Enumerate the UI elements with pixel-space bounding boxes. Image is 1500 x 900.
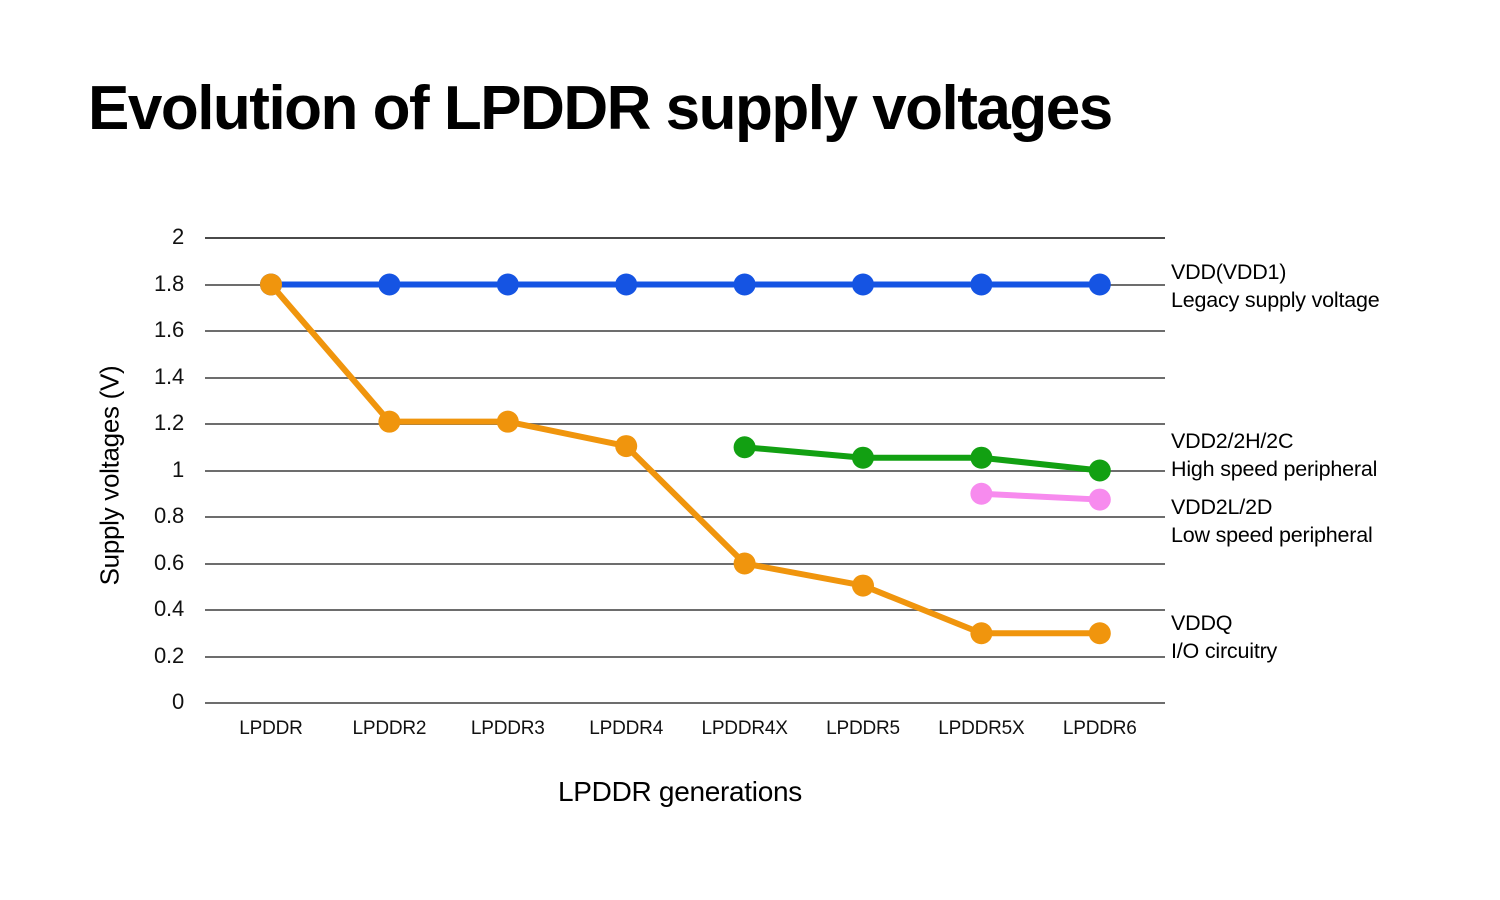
- data-point-marker[interactable]: [734, 436, 756, 458]
- series-line: [745, 447, 1100, 470]
- series-line: [981, 494, 1099, 500]
- chart-figure: Evolution of LPDDR supply voltages Suppl…: [0, 0, 1500, 900]
- data-point-marker[interactable]: [852, 274, 874, 296]
- data-point-marker[interactable]: [260, 274, 282, 296]
- legend-item-name: VDD2/2H/2C: [1171, 427, 1377, 455]
- legend-item-name: VDD2L/2D: [1171, 493, 1373, 521]
- legend-item-description: Legacy supply voltage: [1171, 286, 1380, 314]
- data-point-marker[interactable]: [1089, 489, 1111, 511]
- data-point-marker[interactable]: [970, 483, 992, 505]
- data-point-marker[interactable]: [378, 411, 400, 433]
- legend-item-description: Low speed peripheral: [1171, 521, 1373, 549]
- legend-item-vdd2l: VDD2L/2DLow speed peripheral: [1171, 493, 1373, 550]
- series-vdd-vdd1: [260, 274, 1111, 296]
- legend-item-description: I/O circuitry: [1171, 637, 1277, 665]
- data-point-marker[interactable]: [852, 575, 874, 597]
- data-point-marker[interactable]: [615, 435, 637, 457]
- data-point-marker[interactable]: [378, 274, 400, 296]
- data-point-marker[interactable]: [970, 622, 992, 644]
- data-point-marker[interactable]: [615, 274, 637, 296]
- data-point-marker[interactable]: [734, 553, 756, 575]
- legend-item-vdd2: VDD2/2H/2CHigh speed peripheral: [1171, 427, 1377, 484]
- data-point-marker[interactable]: [734, 274, 756, 296]
- data-point-marker[interactable]: [1089, 274, 1111, 296]
- series-vdd2-2h-2c: [734, 436, 1111, 481]
- data-point-marker[interactable]: [497, 411, 519, 433]
- series-vdd2l-2d: [970, 483, 1110, 511]
- legend-item-name: VDD(VDD1): [1171, 258, 1380, 286]
- legend-item-description: High speed peripheral: [1171, 455, 1377, 483]
- data-point-marker[interactable]: [1089, 460, 1111, 482]
- legend-item-vddq: VDDQI/O circuitry: [1171, 609, 1277, 666]
- data-point-marker[interactable]: [852, 447, 874, 469]
- data-point-marker[interactable]: [497, 274, 519, 296]
- data-point-marker[interactable]: [1089, 622, 1111, 644]
- data-point-marker[interactable]: [970, 447, 992, 469]
- legend-item-vdd: VDD(VDD1)Legacy supply voltage: [1171, 258, 1380, 315]
- legend-item-name: VDDQ: [1171, 609, 1277, 637]
- data-point-marker[interactable]: [970, 274, 992, 296]
